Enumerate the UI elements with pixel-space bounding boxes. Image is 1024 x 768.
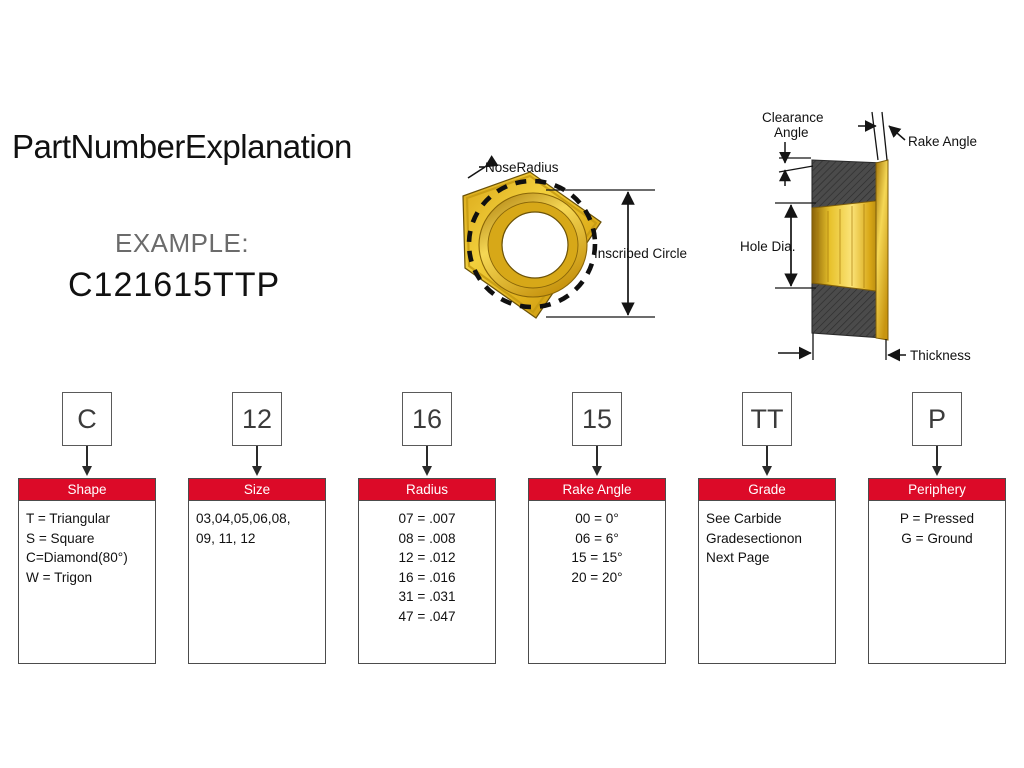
- panel-line: 12 = .012: [366, 548, 488, 568]
- arrow-down-icon-grade: [766, 446, 768, 468]
- panel-body-radius: 07 = .00708 = .00812 = .01216 = .01631 =…: [359, 501, 495, 626]
- insert-center-hole: [502, 212, 568, 278]
- panel-shape: ShapeT = TriangularS = SquareC=Diamond(8…: [18, 478, 156, 664]
- nose-radius-label: NoseRadius: [485, 160, 559, 175]
- panel-line: 00 = 0°: [536, 509, 658, 529]
- panel-body-periphery: P = PressedG = Ground: [869, 501, 1005, 548]
- panel-rake-angle: Rake Angle00 = 0°06 = 6°15 = 15°20 = 20°: [528, 478, 666, 664]
- panel-line: Next Page: [706, 548, 828, 568]
- hole-dia-label: Hole Dia.: [740, 239, 796, 254]
- panel-line: 07 = .007: [366, 509, 488, 529]
- thickness-label: Thickness: [910, 348, 971, 363]
- section-rake-face: [876, 160, 888, 340]
- insert-cross-section-graphic: Clearance Angle Rake Angle Hole Dia. Thi…: [740, 110, 977, 363]
- arrow-down-icon-rake-angle: [596, 446, 598, 468]
- code-box-shape[interactable]: C: [62, 392, 112, 446]
- panel-header-periphery: Periphery: [869, 479, 1005, 501]
- arrow-down-icon-size: [256, 446, 258, 468]
- nose-radius-leader: [468, 167, 485, 178]
- part-code-columns: CShapeT = TriangularS = SquareC=Diamond(…: [0, 380, 1024, 680]
- rake-angle-ref-slant: [872, 112, 878, 160]
- arrow-down-icon-shape: [86, 446, 88, 468]
- panel-line: C=Diamond(80°): [26, 548, 148, 568]
- panel-line: 08 = .008: [366, 529, 488, 549]
- panel-periphery: PeripheryP = PressedG = Ground: [868, 478, 1006, 664]
- panel-header-grade: Grade: [699, 479, 835, 501]
- panel-grade: GradeSee CarbideGradesectiononNext Page: [698, 478, 836, 664]
- panel-line: W = Trigon: [26, 568, 148, 588]
- panel-line: P = Pressed: [876, 509, 998, 529]
- panel-line: 09, 11, 12: [196, 529, 318, 549]
- insert-top-view-graphic: NoseRadius Inscribed Circle: [463, 160, 687, 318]
- arrow-down-icon-periphery: [936, 446, 938, 468]
- panel-line: 16 = .016: [366, 568, 488, 588]
- panel-header-rake-angle: Rake Angle: [529, 479, 665, 501]
- panel-radius: Radius07 = .00708 = .00812 = .01216 = .0…: [358, 478, 496, 664]
- clearance-angle-label-line1: Clearance: [762, 110, 824, 125]
- panel-line: 03,04,05,06,08,: [196, 509, 318, 529]
- panel-line: 47 = .047: [366, 607, 488, 627]
- code-box-radius[interactable]: 16: [402, 392, 452, 446]
- panel-line: See Carbide: [706, 509, 828, 529]
- panel-line: S = Square: [26, 529, 148, 549]
- code-box-rake-angle[interactable]: 15: [572, 392, 622, 446]
- code-box-grade[interactable]: TT: [742, 392, 792, 446]
- arrow-down-icon-radius: [426, 446, 428, 468]
- panel-line: 31 = .031: [366, 587, 488, 607]
- inscribed-circle-label: Inscribed Circle: [594, 246, 687, 261]
- rake-angle-ref-vertical: [882, 112, 887, 160]
- code-box-size[interactable]: 12: [232, 392, 282, 446]
- panel-body-size: 03,04,05,06,08,09, 11, 12: [189, 501, 325, 548]
- insert-illustrations: NoseRadius Inscribed Circle Clearance An…: [0, 0, 1024, 380]
- panel-body-grade: See CarbideGradesectiononNext Page: [699, 501, 835, 568]
- panel-line: T = Triangular: [26, 509, 148, 529]
- panel-header-shape: Shape: [19, 479, 155, 501]
- rake-angle-label: Rake Angle: [908, 134, 977, 149]
- panel-line: Gradesectionon: [706, 529, 828, 549]
- clearance-angle-label-line2: Angle: [774, 125, 809, 140]
- rake-angle-leader-right: [889, 126, 905, 140]
- panel-header-radius: Radius: [359, 479, 495, 501]
- panel-size: Size03,04,05,06,08,09, 11, 12: [188, 478, 326, 664]
- panel-body-shape: T = TriangularS = SquareC=Diamond(80°)W …: [19, 501, 155, 587]
- code-box-periphery[interactable]: P: [912, 392, 962, 446]
- panel-header-size: Size: [189, 479, 325, 501]
- panel-body-rake-angle: 00 = 0°06 = 6°15 = 15°20 = 20°: [529, 501, 665, 587]
- panel-line: 20 = 20°: [536, 568, 658, 588]
- panel-line: G = Ground: [876, 529, 998, 549]
- clearance-angle-ref-line-2: [779, 166, 813, 172]
- panel-line: 15 = 15°: [536, 548, 658, 568]
- panel-line: 06 = 6°: [536, 529, 658, 549]
- section-bore: [812, 200, 884, 292]
